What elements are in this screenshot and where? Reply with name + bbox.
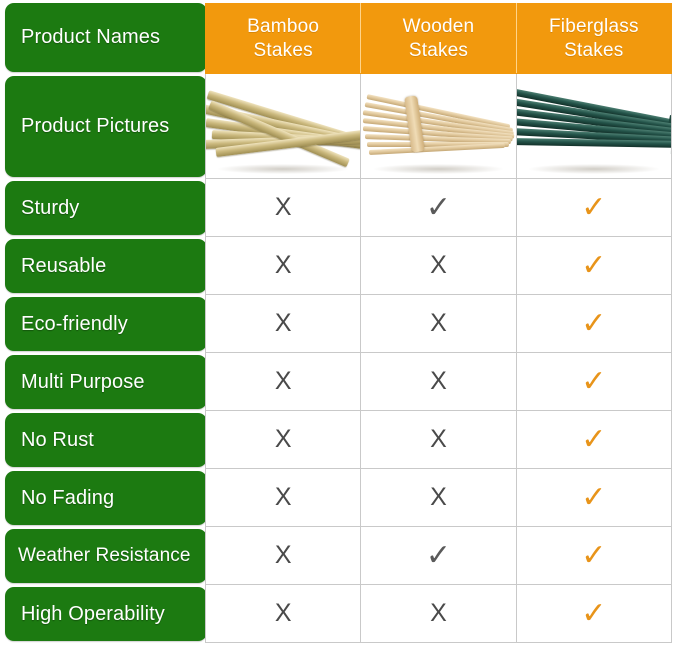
label-high-operability: High Operability <box>5 587 207 641</box>
cross-icon: X <box>430 253 447 278</box>
table-row: X ✓ ✓ <box>206 179 672 237</box>
cross-icon: X <box>275 311 292 336</box>
cell-no-fading-bamboo: X <box>206 469 361 527</box>
cell-reusable-fiberglass: ✓ <box>516 237 671 295</box>
label-text: Product Names <box>21 26 160 49</box>
label-multi-purpose: Multi Purpose <box>5 355 207 409</box>
label-product-pictures: Product Pictures <box>5 76 207 177</box>
column-header-line2: Stakes <box>517 39 671 62</box>
wooden-stakes-photo <box>361 74 515 178</box>
check-icon: ✓ <box>581 599 606 629</box>
label-text: No Rust <box>21 429 94 452</box>
cell-sturdy-bamboo: X <box>206 179 361 237</box>
label-column: Product Names Product Pictures Sturdy Re… <box>5 3 207 645</box>
cross-icon: X <box>430 485 447 510</box>
check-icon: ✓ <box>581 541 606 571</box>
photo-shadow <box>529 164 659 174</box>
cell-picture-wooden <box>361 74 516 179</box>
column-header-line1: Bamboo <box>206 15 360 38</box>
cell-no-rust-bamboo: X <box>206 411 361 469</box>
cross-icon: X <box>430 427 447 452</box>
cross-icon: X <box>430 601 447 626</box>
cell-high-operability-fiberglass: ✓ <box>516 585 671 643</box>
cross-icon: X <box>430 311 447 336</box>
column-header-fiberglass: Fiberglass Stakes <box>516 4 671 74</box>
label-text: No Fading <box>21 487 114 510</box>
label-text: Multi Purpose <box>21 371 145 394</box>
label-eco-friendly: Eco-friendly <box>5 297 207 351</box>
table-header-row: Bamboo Stakes Wooden Stakes Fiberglass S… <box>206 4 672 74</box>
cell-weather-resistance-bamboo: X <box>206 527 361 585</box>
comparison-table: Product Names Product Pictures Sturdy Re… <box>0 0 679 635</box>
cross-icon: X <box>275 427 292 452</box>
cell-no-rust-fiberglass: ✓ <box>516 411 671 469</box>
column-header-line1: Wooden <box>361 15 515 38</box>
label-sturdy: Sturdy <box>5 181 207 235</box>
cell-no-fading-wooden: X <box>361 469 516 527</box>
fiberglass-stakes-photo <box>517 74 671 178</box>
cell-reusable-wooden: X <box>361 237 516 295</box>
label-weather-resistance: Weather Resistance <box>5 529 207 583</box>
cross-icon: X <box>275 369 292 394</box>
cell-picture-bamboo <box>206 74 361 179</box>
column-header-bamboo: Bamboo Stakes <box>206 4 361 74</box>
cell-multi-purpose-wooden: X <box>361 353 516 411</box>
label-no-rust: No Rust <box>5 413 207 467</box>
table-row: X X ✓ <box>206 411 672 469</box>
cross-icon: X <box>430 369 447 394</box>
check-icon: ✓ <box>581 193 606 223</box>
cell-eco-friendly-wooden: X <box>361 295 516 353</box>
label-text: Reusable <box>21 255 106 278</box>
cell-high-operability-bamboo: X <box>206 585 361 643</box>
cell-multi-purpose-bamboo: X <box>206 353 361 411</box>
photo-shadow <box>218 164 348 174</box>
cross-icon: X <box>275 485 292 510</box>
cell-reusable-bamboo: X <box>206 237 361 295</box>
cross-icon: X <box>275 601 292 626</box>
column-header-line2: Stakes <box>361 39 515 62</box>
table-row: X X ✓ <box>206 469 672 527</box>
cell-weather-resistance-fiberglass: ✓ <box>516 527 671 585</box>
table-row: X X ✓ <box>206 237 672 295</box>
label-reusable: Reusable <box>5 239 207 293</box>
cross-icon: X <box>275 253 292 278</box>
bamboo-stakes-photo <box>206 74 360 178</box>
cell-eco-friendly-bamboo: X <box>206 295 361 353</box>
cross-icon: X <box>275 543 292 568</box>
cell-picture-fiberglass <box>516 74 671 179</box>
table-row: X X ✓ <box>206 585 672 643</box>
label-no-fading: No Fading <box>5 471 207 525</box>
label-text: Eco-friendly <box>21 313 128 336</box>
label-text: Product Pictures <box>21 115 169 138</box>
check-icon: ✓ <box>426 541 451 571</box>
cell-weather-resistance-wooden: ✓ <box>361 527 516 585</box>
column-header-wooden: Wooden Stakes <box>361 4 516 74</box>
column-header-line2: Stakes <box>206 39 360 62</box>
photo-shadow <box>374 164 504 174</box>
table-row: X X ✓ <box>206 295 672 353</box>
table-row: X ✓ ✓ <box>206 527 672 585</box>
cell-high-operability-wooden: X <box>361 585 516 643</box>
label-product-names: Product Names <box>5 3 207 72</box>
label-text: Sturdy <box>21 197 79 220</box>
cell-multi-purpose-fiberglass: ✓ <box>516 353 671 411</box>
table-row-product-pictures <box>206 74 672 179</box>
cell-sturdy-wooden: ✓ <box>361 179 516 237</box>
label-text: Weather Resistance <box>18 545 191 567</box>
check-icon: ✓ <box>581 251 606 281</box>
table-row: X X ✓ <box>206 353 672 411</box>
check-icon: ✓ <box>581 425 606 455</box>
cell-eco-friendly-fiberglass: ✓ <box>516 295 671 353</box>
cell-no-fading-fiberglass: ✓ <box>516 469 671 527</box>
comparison-grid: Bamboo Stakes Wooden Stakes Fiberglass S… <box>205 3 672 643</box>
column-header-line1: Fiberglass <box>517 15 671 38</box>
cell-sturdy-fiberglass: ✓ <box>516 179 671 237</box>
check-icon: ✓ <box>581 367 606 397</box>
check-icon: ✓ <box>581 309 606 339</box>
label-text: High Operability <box>21 603 165 626</box>
check-icon: ✓ <box>581 483 606 513</box>
cell-no-rust-wooden: X <box>361 411 516 469</box>
cross-icon: X <box>275 195 292 220</box>
check-icon: ✓ <box>426 193 451 223</box>
